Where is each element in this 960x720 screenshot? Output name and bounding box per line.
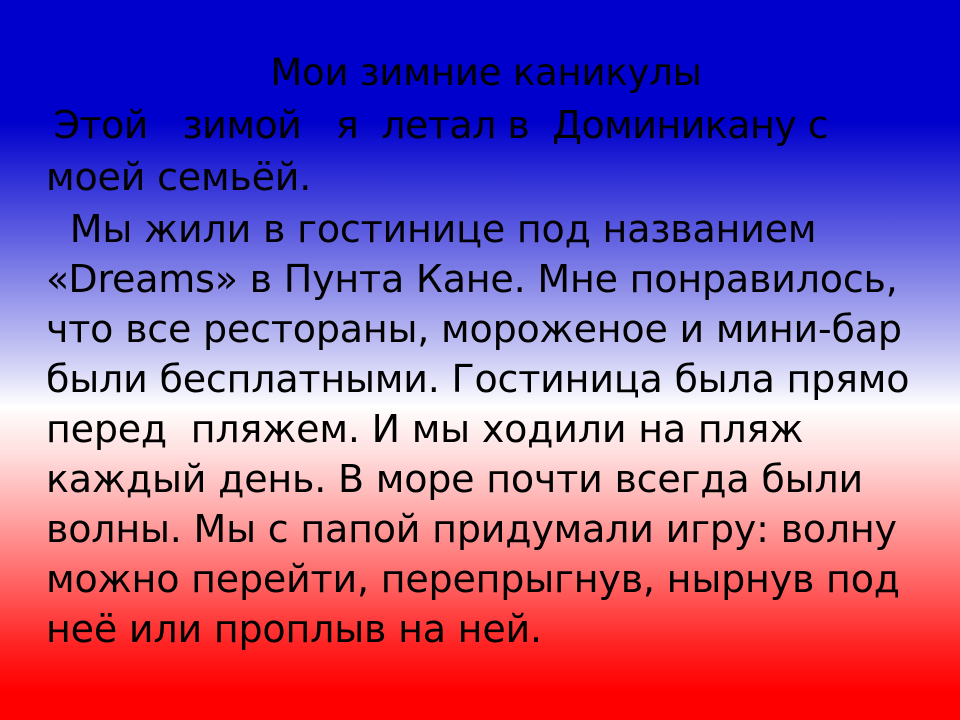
slide-line-8: каждый день. В море почти всегда были	[46, 458, 946, 500]
slide-line-4: «Dreams» в Пунта Кане. Мне понравилось,	[46, 258, 946, 300]
slide-line-5: что все рестораны, мороженое и мини-бар	[46, 308, 946, 350]
slide-line-1: Этой зимой я летал в Доминикану с	[42, 104, 946, 146]
slide-title: Мои зимние каникулы	[0, 52, 960, 94]
slide-line-6: были бесплатными. Гостиница была прямо	[46, 358, 946, 400]
slide-line-10: можно перейти, перепрыгнув, нырнув под	[46, 558, 946, 600]
slide-line-2: моей семьёй.	[46, 156, 946, 198]
slide-line-11: неё или проплыв на ней.	[46, 608, 946, 650]
slide-text-body: Мои зимние каникулы Этой зимой я летал в…	[0, 0, 960, 720]
slide-line-3: Мы жили в гостинице под названием	[46, 208, 946, 250]
slide-line-7: перед пляжем. И мы ходили на пляж	[46, 408, 946, 450]
slide-line-9: волны. Мы с папой придумали игру: волну	[46, 508, 946, 550]
presentation-slide: Мои зимние каникулы Этой зимой я летал в…	[0, 0, 960, 720]
